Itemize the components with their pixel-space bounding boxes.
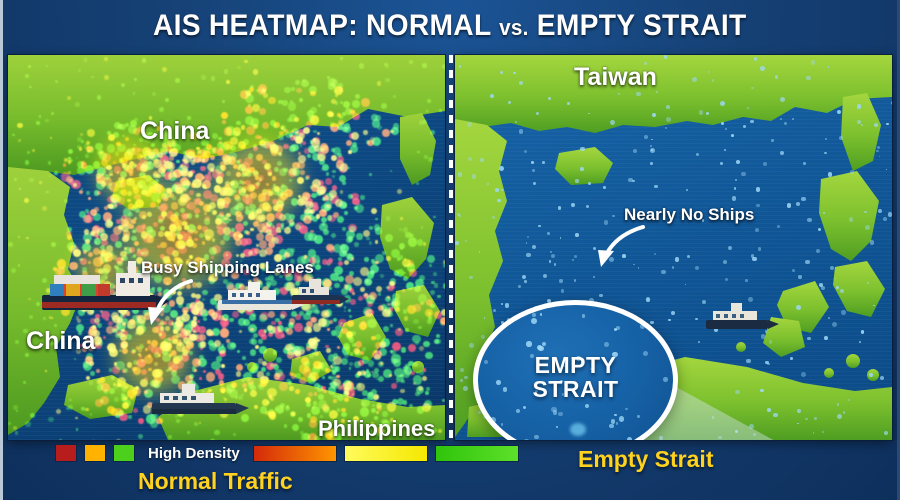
magnifier-label: EMPTY STRAIT — [478, 353, 673, 401]
title-vs: vs. — [499, 15, 529, 40]
map-canvas-right: Taiwan Nearly No Ships EMPTY STRAIT — [455, 55, 892, 440]
map-canvas-left: China China Philippines Busy Shipping La… — [8, 55, 445, 440]
title-part-1: AIS HEATMAP: NORMAL — [153, 9, 499, 42]
ship-lone-vessel — [703, 300, 781, 336]
magnifier-label-line1: EMPTY — [478, 353, 673, 377]
ship-tug-small — [289, 275, 351, 311]
map-label-china-top: China — [140, 117, 209, 146]
legend-bar-yellow — [344, 445, 428, 462]
arrow-busy-lanes-icon — [143, 277, 213, 327]
legend-swatch-dark-red — [55, 444, 77, 462]
annotation-nearly-no-ships: Nearly No Ships — [624, 205, 754, 225]
legend-bar-red-orange — [253, 445, 337, 462]
title-part-2: EMPTY STRAIT — [529, 9, 747, 42]
legend-bar-green — [435, 445, 519, 462]
page-title: AIS HEATMAP: NORMAL vs. EMPTY STRAIT — [153, 9, 747, 43]
caption-normal-traffic: Normal Traffic — [138, 468, 293, 495]
magnifier-circle: EMPTY STRAIT — [473, 300, 678, 440]
magnifier-label-line2: STRAIT — [478, 377, 673, 401]
arrow-no-ships-icon — [587, 223, 651, 269]
caption-empty-strait: Empty Strait — [578, 446, 713, 473]
legend-swatch-green — [113, 444, 135, 462]
legend-swatch-amber — [84, 444, 106, 462]
title-bar: AIS HEATMAP: NORMAL vs. EMPTY STRAIT — [0, 0, 900, 52]
ship-vessel-lower — [148, 381, 252, 423]
map-label-taiwan: Taiwan — [574, 63, 657, 92]
density-legend: High Density — [55, 444, 519, 462]
panel-empty-strait[interactable]: Taiwan Nearly No Ships EMPTY STRAIT — [455, 55, 892, 440]
legend-title: High Density — [148, 445, 240, 462]
map-label-philippines: Philippines — [318, 416, 435, 440]
annotation-busy-shipping-lanes: Busy Shipping Lanes — [141, 258, 314, 278]
map-label-china-left: China — [26, 327, 95, 356]
panel-normal-traffic[interactable]: China China Philippines Busy Shipping La… — [8, 55, 445, 440]
panel-divider — [449, 55, 453, 448]
